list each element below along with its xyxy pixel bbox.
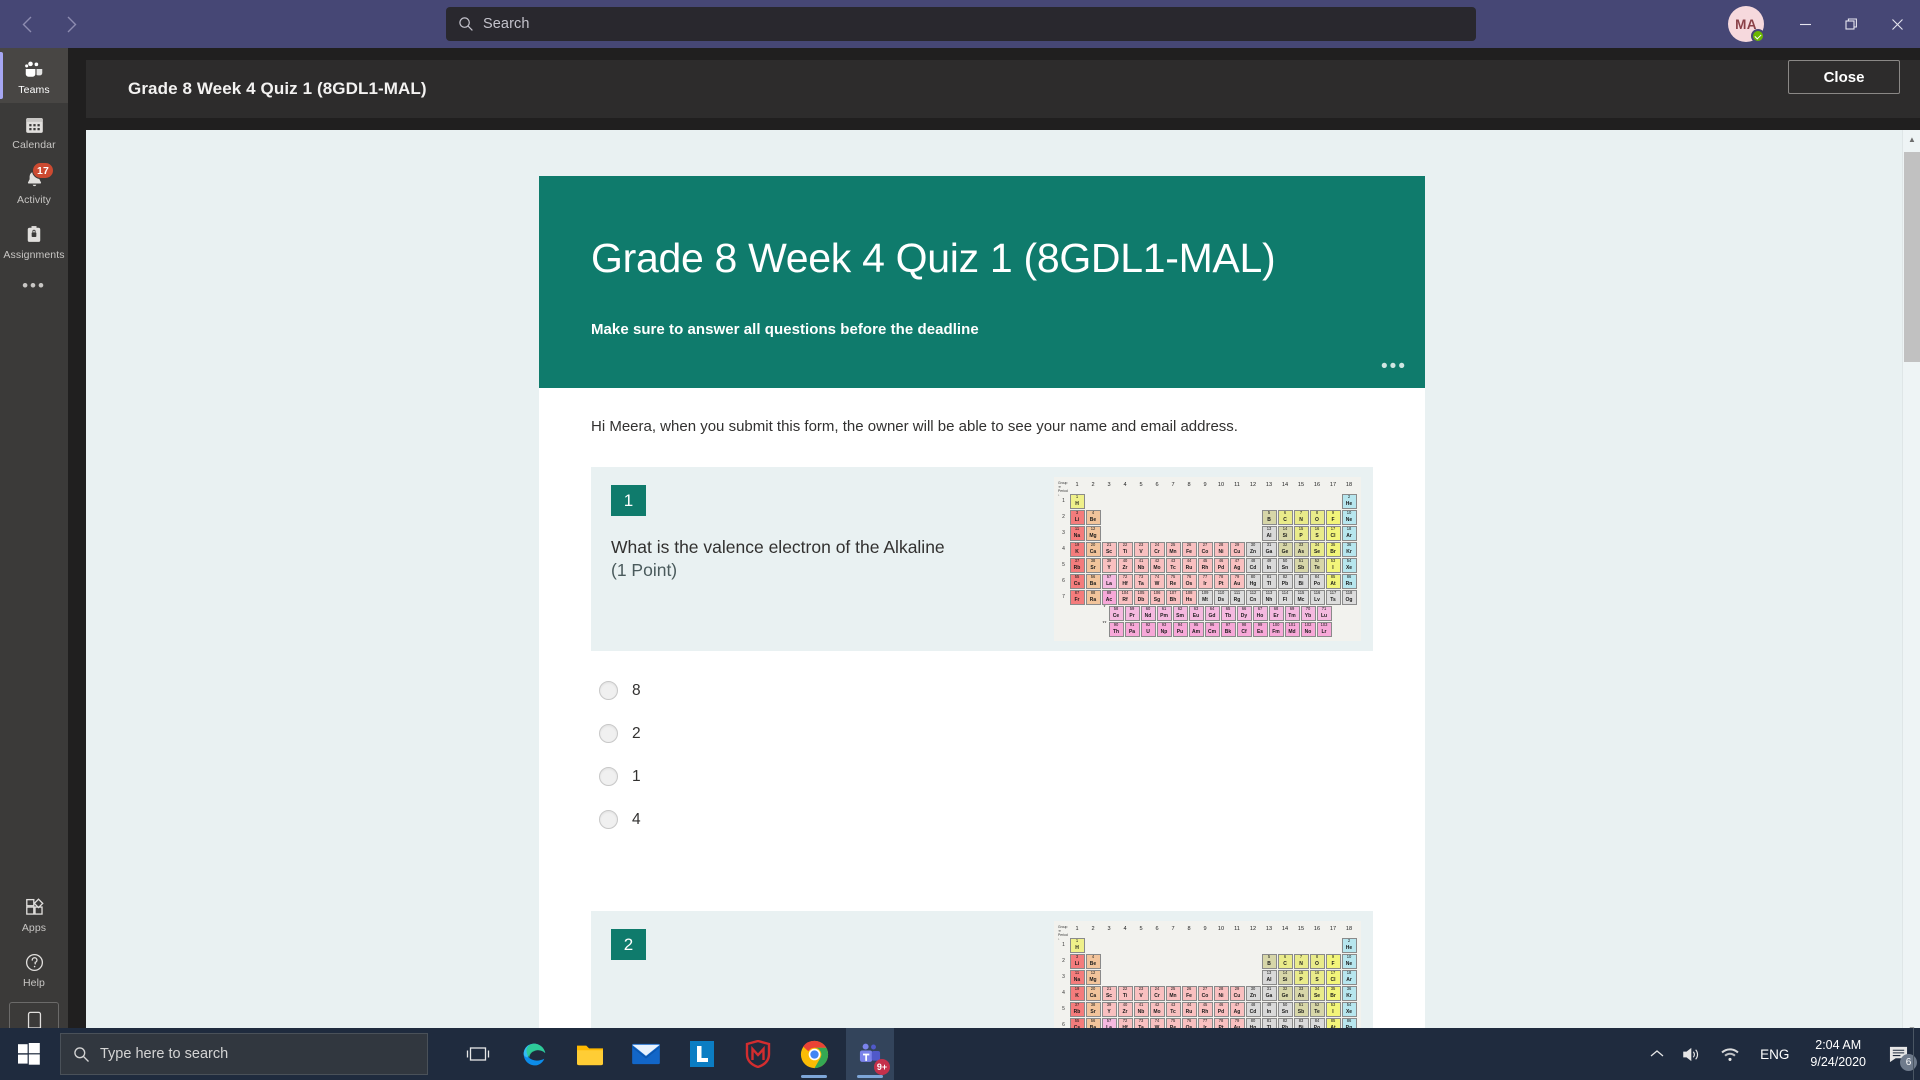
presence-available-icon [1751, 29, 1765, 43]
periodic-cell-empty [1150, 526, 1165, 541]
rail-label-activity: Activity [17, 194, 51, 206]
periodic-cell-Hg: 80Hg [1246, 574, 1261, 589]
periodic-cell-Rn: 86Rn [1342, 574, 1357, 589]
periodic-cell-Zr: 40Zr [1118, 558, 1133, 573]
periodic-group-header: 16 [1309, 482, 1325, 488]
periodic-cell-empty [1246, 938, 1261, 953]
periodic-cell-empty [1198, 970, 1213, 985]
periodic-period-label: 7 [1058, 589, 1069, 605]
periodic-cell-empty [1070, 622, 1085, 637]
periodic-period-label: 4 [1058, 541, 1069, 557]
periodic-cell-Rh: 45Rh [1198, 558, 1213, 573]
periodic-cell-P: 15P [1294, 526, 1309, 541]
periodic-cell-empty [1150, 970, 1165, 985]
periodic-cell-empty [1182, 494, 1197, 509]
rail-item-help[interactable]: Help [0, 941, 68, 996]
periodic-cell-empty [1150, 510, 1165, 525]
show-desktop-button[interactable] [1913, 1028, 1920, 1080]
periodic-cell-Ni: 28Ni [1214, 542, 1229, 557]
periodic-group-header: 8 [1181, 482, 1197, 488]
option-row[interactable]: 4 [599, 798, 1373, 841]
periodic-cell-Os: 76Os [1182, 574, 1197, 589]
question-1-image[interactable]: Group ➜Period↓12345678910111213141516171… [1054, 467, 1373, 651]
periodic-group-header: 18 [1341, 482, 1357, 488]
periodic-cell-N: 7N [1294, 954, 1309, 969]
periodic-period-row: 655Cs56Ba57La72Hf73Ta74W75Re76Os77Ir78Pt… [1058, 573, 1357, 589]
activity-badge: 17 [32, 162, 54, 179]
periodic-cell-empty [1070, 606, 1085, 621]
periodic-group-header: 5 [1133, 926, 1149, 932]
apps-icon [22, 895, 46, 919]
periodic-cell-Ti: 22Ti [1118, 986, 1133, 1001]
periodic-cell-Ga: 31Ga [1262, 542, 1277, 557]
periodic-cell-empty [1246, 970, 1261, 985]
periodic-group-header: 2 [1085, 482, 1101, 488]
periodic-cell-empty [1198, 526, 1213, 541]
periodic-group-headers: Group ➜Period↓12345678910111213141516171… [1058, 926, 1357, 937]
periodic-cell-Nh: 113Nh [1262, 590, 1277, 605]
periodic-cell-Au: 79Au [1230, 574, 1245, 589]
periodic-cell-Ru: 44Ru [1182, 1002, 1197, 1017]
periodic-cell-Cn: 112Cn [1246, 590, 1261, 605]
taskbar-search-box[interactable]: Type here to search [60, 1033, 428, 1075]
periodic-cell-empty [1166, 510, 1181, 525]
periodic-cell-Ca: 20Ca [1086, 542, 1101, 557]
dialog-title: Grade 8 Week 4 Quiz 1 (8GDL1-MAL) [128, 79, 427, 99]
taskbar-file-explorer-button[interactable] [566, 1028, 614, 1080]
periodic-cell-empty [1086, 606, 1101, 621]
periodic-cell-Bi: 83Bi [1294, 574, 1309, 589]
form-greeting: Hi Meera, when you submit this form, the… [591, 388, 1373, 435]
periodic-group-header: 18 [1341, 926, 1357, 932]
option-label: 1 [632, 768, 641, 786]
periodic-cell-Pu: 94Pu [1173, 622, 1188, 637]
periodic-cell-Mg: 12Mg [1086, 970, 1101, 985]
periodic-cell-C: 6C [1278, 954, 1293, 969]
google-chrome-icon [800, 1040, 829, 1069]
start-button[interactable] [0, 1028, 58, 1080]
periodic-cell-Ho: 67Ho [1253, 606, 1268, 621]
question-1-content: 1 What is the valence electron of the Al… [591, 467, 1054, 604]
shield-m-icon [745, 1040, 771, 1068]
periodic-cell-empty [1326, 938, 1341, 953]
periodic-group-header: 3 [1101, 926, 1117, 932]
periodic-cell-Sn: 50Sn [1278, 558, 1293, 573]
periodic-group-header: 1 [1069, 482, 1085, 488]
wifi-icon [1720, 1046, 1740, 1063]
periodic-period-label: 2 [1058, 953, 1069, 969]
periodic-group-header: 1 [1069, 926, 1085, 932]
periodic-cell-empty [1134, 526, 1149, 541]
task-view-icon [466, 1043, 490, 1065]
periodic-cell-Th: 90Th [1109, 622, 1124, 637]
periodic-group-header: 12 [1245, 482, 1261, 488]
taskbar-shield-app-button[interactable] [734, 1028, 782, 1080]
periodic-cell-empty [1182, 954, 1197, 969]
form-scrollbar[interactable]: ▲ ▼ [1902, 130, 1920, 1038]
periodic-cell-Sr: 38Sr [1086, 1002, 1101, 1017]
rail-item-activity[interactable]: 17 Activity [0, 158, 68, 213]
scroll-up-button[interactable]: ▲ [1903, 130, 1920, 148]
periodic-cell-empty [1198, 938, 1213, 953]
periodic-cell-Dy: 66Dy [1237, 606, 1252, 621]
window-close-button[interactable] [1874, 0, 1920, 48]
periodic-cell-empty [1150, 938, 1165, 953]
periodic-group-header: 11 [1229, 482, 1245, 488]
periodic-cell-Ca: 20Ca [1086, 986, 1101, 1001]
rail-label-calendar: Calendar [12, 139, 55, 151]
rail-label-assignments: Assignments [3, 249, 64, 261]
periodic-group-header: 10 [1213, 926, 1229, 932]
periodic-cell-Si: 14Si [1278, 526, 1293, 541]
periodic-group-header: 5 [1133, 482, 1149, 488]
scrollbar-thumb[interactable] [1904, 152, 1920, 362]
periodic-cell-Og: 118Og [1342, 590, 1357, 605]
language-indicator[interactable]: ENG [1749, 1047, 1800, 1062]
periodic-cell-empty [1166, 526, 1181, 541]
periodic-cell-Se: 34Se [1310, 542, 1325, 557]
periodic-cell-Ds: 110Ds [1214, 590, 1229, 605]
periodic-cell-Ar: 18Ar [1342, 526, 1357, 541]
periodic-cell-empty [1246, 510, 1261, 525]
periodic-cell-P: 15P [1294, 970, 1309, 985]
periodic-group-header: 7 [1165, 926, 1181, 932]
periodic-cell-empty [1102, 494, 1117, 509]
periodic-cell-Be: 4Be [1086, 954, 1101, 969]
periodic-cell-H: 1H [1070, 938, 1085, 953]
taskbar-mail-button[interactable] [622, 1028, 670, 1080]
periodic-group-header: 6 [1149, 482, 1165, 488]
question-1-points: (1 Point) [611, 560, 677, 580]
periodic-cell-S: 16S [1310, 526, 1325, 541]
periodic-group-header: 15 [1293, 926, 1309, 932]
periodic-cell-I: 53I [1326, 1002, 1341, 1017]
periodic-cell-F: 9F [1326, 510, 1341, 525]
rail-item-assignments[interactable]: Assignments [0, 213, 68, 268]
question-1-options: 8 2 1 4 [591, 651, 1373, 841]
periodic-cell-Pb: 82Pb [1278, 574, 1293, 589]
periodic-cell-empty [1230, 954, 1245, 969]
taskbar-app-icons: 9+ [454, 1028, 894, 1080]
periodic-cell-O: 8O [1310, 510, 1325, 525]
periodic-cell-empty [1230, 526, 1245, 541]
periodic-cell-In: 49In [1262, 1002, 1277, 1017]
periodic-cell-Sm: 62Sm [1173, 606, 1188, 621]
periodic-cell-Ir: 77Ir [1198, 574, 1213, 589]
periodic-cell-empty [1214, 526, 1229, 541]
periodic-cell-Rh: 45Rh [1198, 1002, 1213, 1017]
clock-date: 9/24/2020 [1810, 1054, 1866, 1071]
periodic-period-label: 6 [1058, 573, 1069, 589]
periodic-group-header: 14 [1277, 482, 1293, 488]
global-search[interactable]: Search [446, 7, 1476, 41]
periodic-cell-F: 9F [1326, 954, 1341, 969]
assignments-icon [22, 222, 46, 246]
periodic-cell-Ba: 56Ba [1086, 574, 1101, 589]
periodic-cell-Rf: 104Rf [1118, 590, 1133, 605]
periodic-cell-O: 8O [1310, 954, 1325, 969]
rail-item-teams[interactable]: Teams [0, 48, 68, 103]
periodic-group-header: 13 [1261, 482, 1277, 488]
option-row[interactable]: 1 [599, 755, 1373, 798]
periodic-series-marker: * [1101, 605, 1108, 611]
periodic-cell-Xe: 54Xe [1342, 1002, 1357, 1017]
periodic-group-header: 10 [1213, 482, 1229, 488]
periodic-cell-Tl: 81Tl [1262, 574, 1277, 589]
periodic-cell-Br: 35Br [1326, 986, 1341, 1001]
network-button[interactable] [1711, 1028, 1749, 1080]
periodic-group-header: 17 [1325, 482, 1341, 488]
rail-label-help: Help [23, 977, 45, 989]
mail-icon [631, 1042, 661, 1066]
periodic-cell-Pr: 59Pr [1125, 606, 1140, 621]
periodic-cell-empty [1246, 526, 1261, 541]
volume-icon [1682, 1046, 1702, 1063]
forward-button[interactable] [54, 7, 88, 41]
question-1-number: 1 [611, 485, 646, 516]
periodic-cell-Sr: 38Sr [1086, 558, 1101, 573]
periodic-period-row: 23Li4Be5B6C7N8O9F10Ne [1058, 953, 1357, 969]
periodic-cell-empty [1198, 954, 1213, 969]
periodic-cell-Na: 11Na [1070, 970, 1085, 985]
chevron-right-icon [66, 16, 77, 33]
periodic-period-row: 311Na12Mg13Al14Si15P16S17Cl18Ar [1058, 525, 1357, 541]
option-row[interactable]: 2 [599, 712, 1373, 755]
form-subtitle: Make sure to answer all questions before… [591, 321, 1373, 338]
periodic-cell-Mo: 42Mo [1150, 1002, 1165, 1017]
periodic-cell-empty [1102, 526, 1117, 541]
periodic-cell-Te: 52Te [1310, 1002, 1325, 1017]
periodic-cell-Ge: 32Ge [1278, 986, 1293, 1001]
periodic-cell-Br: 35Br [1326, 542, 1341, 557]
periodic-cell-At: 85At [1326, 574, 1341, 589]
periodic-actinide-row: **90Th91Pa92U93Np94Pu95Am96Cm97Bk98Cf99E… [1058, 621, 1357, 637]
periodic-cell-Ts: 117Ts [1326, 590, 1341, 605]
periodic-cell-Np: 93Np [1157, 622, 1172, 637]
dialog-header: Grade 8 Week 4 Quiz 1 (8GDL1-MAL) [86, 60, 1920, 118]
periodic-cell-Na: 11Na [1070, 526, 1085, 541]
periodic-cell-Cl: 17Cl [1326, 970, 1341, 985]
rail-more-label: ••• [22, 276, 46, 296]
periodic-cell-empty [1134, 510, 1149, 525]
periodic-cell-empty [1166, 954, 1181, 969]
periodic-cell-Li: 3Li [1070, 510, 1085, 525]
chevron-up-icon [1650, 1049, 1664, 1059]
periodic-cell-Cr: 24Cr [1150, 542, 1165, 557]
periodic-cell-Lr: 103Lr [1317, 622, 1332, 637]
question-2-number: 2 [611, 929, 646, 960]
periodic-cell-Fm: 100Fm [1269, 622, 1284, 637]
teams-badge: 9+ [874, 1059, 890, 1075]
periodic-cell-Mc: 115Mc [1294, 590, 1309, 605]
periodic-group-header: 9 [1197, 482, 1213, 488]
radio-button[interactable] [599, 810, 618, 829]
periodic-cell-empty [1086, 622, 1101, 637]
periodic-group-header: 6 [1149, 926, 1165, 932]
periodic-cell-empty [1134, 494, 1149, 509]
restore-button[interactable] [1828, 0, 1874, 48]
periodic-cell-empty [1118, 938, 1133, 953]
periodic-period-label: 1 [1058, 493, 1069, 509]
periodic-cell-Cl: 17Cl [1326, 526, 1341, 541]
form-viewport: Grade 8 Week 4 Quiz 1 (8GDL1-MAL) Make s… [86, 130, 1920, 1038]
periodic-cell-Ar: 18Ar [1342, 970, 1357, 985]
periodic-cell-empty [1118, 526, 1133, 541]
periodic-period-row: 11H2He [1058, 493, 1357, 509]
periodic-cell-Ge: 32Ge [1278, 542, 1293, 557]
periodic-table-image: Group ➜Period↓12345678910111213141516171… [1054, 921, 1361, 1038]
periodic-cell-Ac: 89Ac [1102, 590, 1117, 605]
periodic-cell-Cm: 96Cm [1205, 622, 1220, 637]
periodic-period-label: 5 [1058, 557, 1069, 573]
periodic-cell-Fe: 26Fe [1182, 542, 1197, 557]
periodic-cell-empty [1214, 954, 1229, 969]
taskbar-chrome-button[interactable] [790, 1028, 838, 1080]
periodic-cell-Fr: 87Fr [1070, 590, 1085, 605]
periodic-cell-empty [1150, 494, 1165, 509]
periodic-cell-empty [1182, 970, 1197, 985]
radio-button[interactable] [599, 681, 618, 700]
form-more-options-button[interactable]: ••• [1381, 357, 1407, 376]
task-view-button[interactable] [454, 1028, 502, 1080]
periodic-group-header: 11 [1229, 926, 1245, 932]
periodic-group-header: 4 [1117, 926, 1133, 932]
option-label: 2 [632, 725, 641, 743]
periodic-cell-As: 33As [1294, 542, 1309, 557]
periodic-group-header: 4 [1117, 482, 1133, 488]
avatar[interactable]: MA [1728, 6, 1764, 42]
search-box[interactable]: Search [446, 7, 1476, 41]
periodic-cell-Cs: 55Cs [1070, 574, 1085, 589]
radio-button[interactable] [599, 767, 618, 786]
periodic-group-header: 17 [1325, 926, 1341, 932]
periodic-cell-V: 23V [1134, 542, 1149, 557]
periodic-cell-empty [1246, 954, 1261, 969]
periodic-cell-empty [1214, 970, 1229, 985]
periodic-cell-I: 53I [1326, 558, 1341, 573]
periodic-cell-Lu: 71Lu [1317, 606, 1332, 621]
periodic-group-header: 7 [1165, 482, 1181, 488]
periodic-group-header: 9 [1197, 926, 1213, 932]
taskbar-edge-button[interactable] [510, 1028, 558, 1080]
taskbar-l-app-button[interactable] [678, 1028, 726, 1080]
option-label: 4 [632, 811, 641, 829]
periodic-lanthanide-row: *58Ce59Pr60Nd61Pm62Sm63Eu64Gd65Tb66Dy67H… [1058, 605, 1357, 621]
periodic-cell-empty [1166, 970, 1181, 985]
periodic-cell-empty [1214, 494, 1229, 509]
periodic-cell-empty [1086, 938, 1101, 953]
periodic-cell-empty [1230, 970, 1245, 985]
periodic-cell-Kr: 36Kr [1342, 542, 1357, 557]
app-title-bar: Search MA [0, 0, 1920, 48]
periodic-cell-empty [1102, 510, 1117, 525]
periodic-cell-Al: 13Al [1262, 526, 1277, 541]
periodic-cell-Cr: 24Cr [1150, 986, 1165, 1001]
periodic-group-header: 8 [1181, 926, 1197, 932]
periodic-cell-No: 102No [1301, 622, 1316, 637]
periodic-cell-Pd: 46Pd [1214, 558, 1229, 573]
teams-icon [22, 57, 46, 81]
rail-item-calendar[interactable]: Calendar [0, 103, 68, 158]
periodic-cell-Md: 101Md [1285, 622, 1300, 637]
periodic-table-image: Group ➜Period↓12345678910111213141516171… [1054, 477, 1361, 641]
periodic-cell-Ni: 28Ni [1214, 986, 1229, 1001]
periodic-cell-He: 2He [1342, 938, 1357, 953]
periodic-cell-empty [1262, 494, 1277, 509]
minimize-button[interactable] [1782, 0, 1828, 48]
periodic-cell-Mo: 42Mo [1150, 558, 1165, 573]
option-row[interactable]: 8 [599, 669, 1373, 712]
periodic-cell-Mn: 25Mn [1166, 986, 1181, 1001]
periodic-cell-empty [1214, 938, 1229, 953]
periodic-cell-K: 19K [1070, 542, 1085, 557]
clock[interactable]: 2:04 AM 9/24/2020 [1800, 1037, 1876, 1071]
periodic-cell-empty [1230, 938, 1245, 953]
periodic-cell-empty [1118, 970, 1133, 985]
file-explorer-icon [575, 1041, 605, 1067]
periodic-cell-Nd: 60Nd [1141, 606, 1156, 621]
periodic-cell-Es: 99Es [1253, 622, 1268, 637]
periodic-cell-empty [1182, 938, 1197, 953]
periodic-cell-Eu: 63Eu [1189, 606, 1204, 621]
periodic-cell-empty [1102, 954, 1117, 969]
periodic-cell-Si: 14Si [1278, 970, 1293, 985]
periodic-cell-empty [1310, 494, 1325, 509]
taskbar-teams-button[interactable]: 9+ [846, 1028, 894, 1080]
periodic-cell-empty [1310, 938, 1325, 953]
radio-button[interactable] [599, 724, 618, 743]
periodic-cell-empty [1166, 938, 1181, 953]
periodic-period-row: 419K20Ca21Sc22Ti23V24Cr25Mn26Fe27Co28Ni2… [1058, 985, 1357, 1001]
rail-more-apps-button[interactable]: ••• [0, 268, 68, 304]
periodic-cell-Re: 75Re [1166, 574, 1181, 589]
question-1-text: What is the valence electron of the Alka… [611, 536, 971, 582]
periodic-cell-Pm: 61Pm [1157, 606, 1172, 621]
periodic-cell-empty [1182, 510, 1197, 525]
periodic-cell-S: 16S [1310, 970, 1325, 985]
calendar-icon [22, 112, 46, 136]
periodic-cell-empty [1182, 526, 1197, 541]
periodic-cell-Be: 4Be [1086, 510, 1101, 525]
periodic-cell-empty [1118, 494, 1133, 509]
back-button[interactable] [10, 7, 44, 41]
periodic-cell-He: 2He [1342, 494, 1357, 509]
rail-item-apps[interactable]: Apps [0, 886, 68, 941]
periodic-cell-empty [1102, 938, 1117, 953]
periodic-group-header: 14 [1277, 926, 1293, 932]
periodic-period-label: 4 [1058, 985, 1069, 1001]
windows-taskbar: Type here to search [0, 1028, 1920, 1080]
periodic-cell-empty [1086, 494, 1101, 509]
volume-button[interactable] [1673, 1028, 1711, 1080]
question-block-1: 1 What is the valence electron of the Al… [591, 467, 1373, 651]
periodic-period-row: 23Li4Be5B6C7N8O9F10Ne [1058, 509, 1357, 525]
periodic-cell-B: 5B [1262, 510, 1277, 525]
periodic-cell-Sb: 51Sb [1294, 558, 1309, 573]
periodic-period-row: 537Rb38Sr39Y40Zr41Nb42Mo43Tc44Ru45Rh46Pd… [1058, 557, 1357, 573]
question-2-image[interactable]: Group ➜Period↓12345678910111213141516171… [1054, 911, 1373, 1038]
periodic-cell-Ce: 58Ce [1109, 606, 1124, 621]
periodic-cell-Y: 39Y [1102, 1002, 1117, 1017]
show-hidden-icons-button[interactable] [1641, 1028, 1673, 1080]
close-button[interactable]: Close [1788, 60, 1900, 94]
periodic-group-header: 2 [1085, 926, 1101, 932]
periodic-cell-Rg: 111Rg [1230, 590, 1245, 605]
periodic-cell-Gd: 64Gd [1205, 606, 1220, 621]
periodic-cell-Al: 13Al [1262, 970, 1277, 985]
periodic-cell-Mn: 25Mn [1166, 542, 1181, 557]
periodic-cell-Ne: 10Ne [1342, 954, 1357, 969]
